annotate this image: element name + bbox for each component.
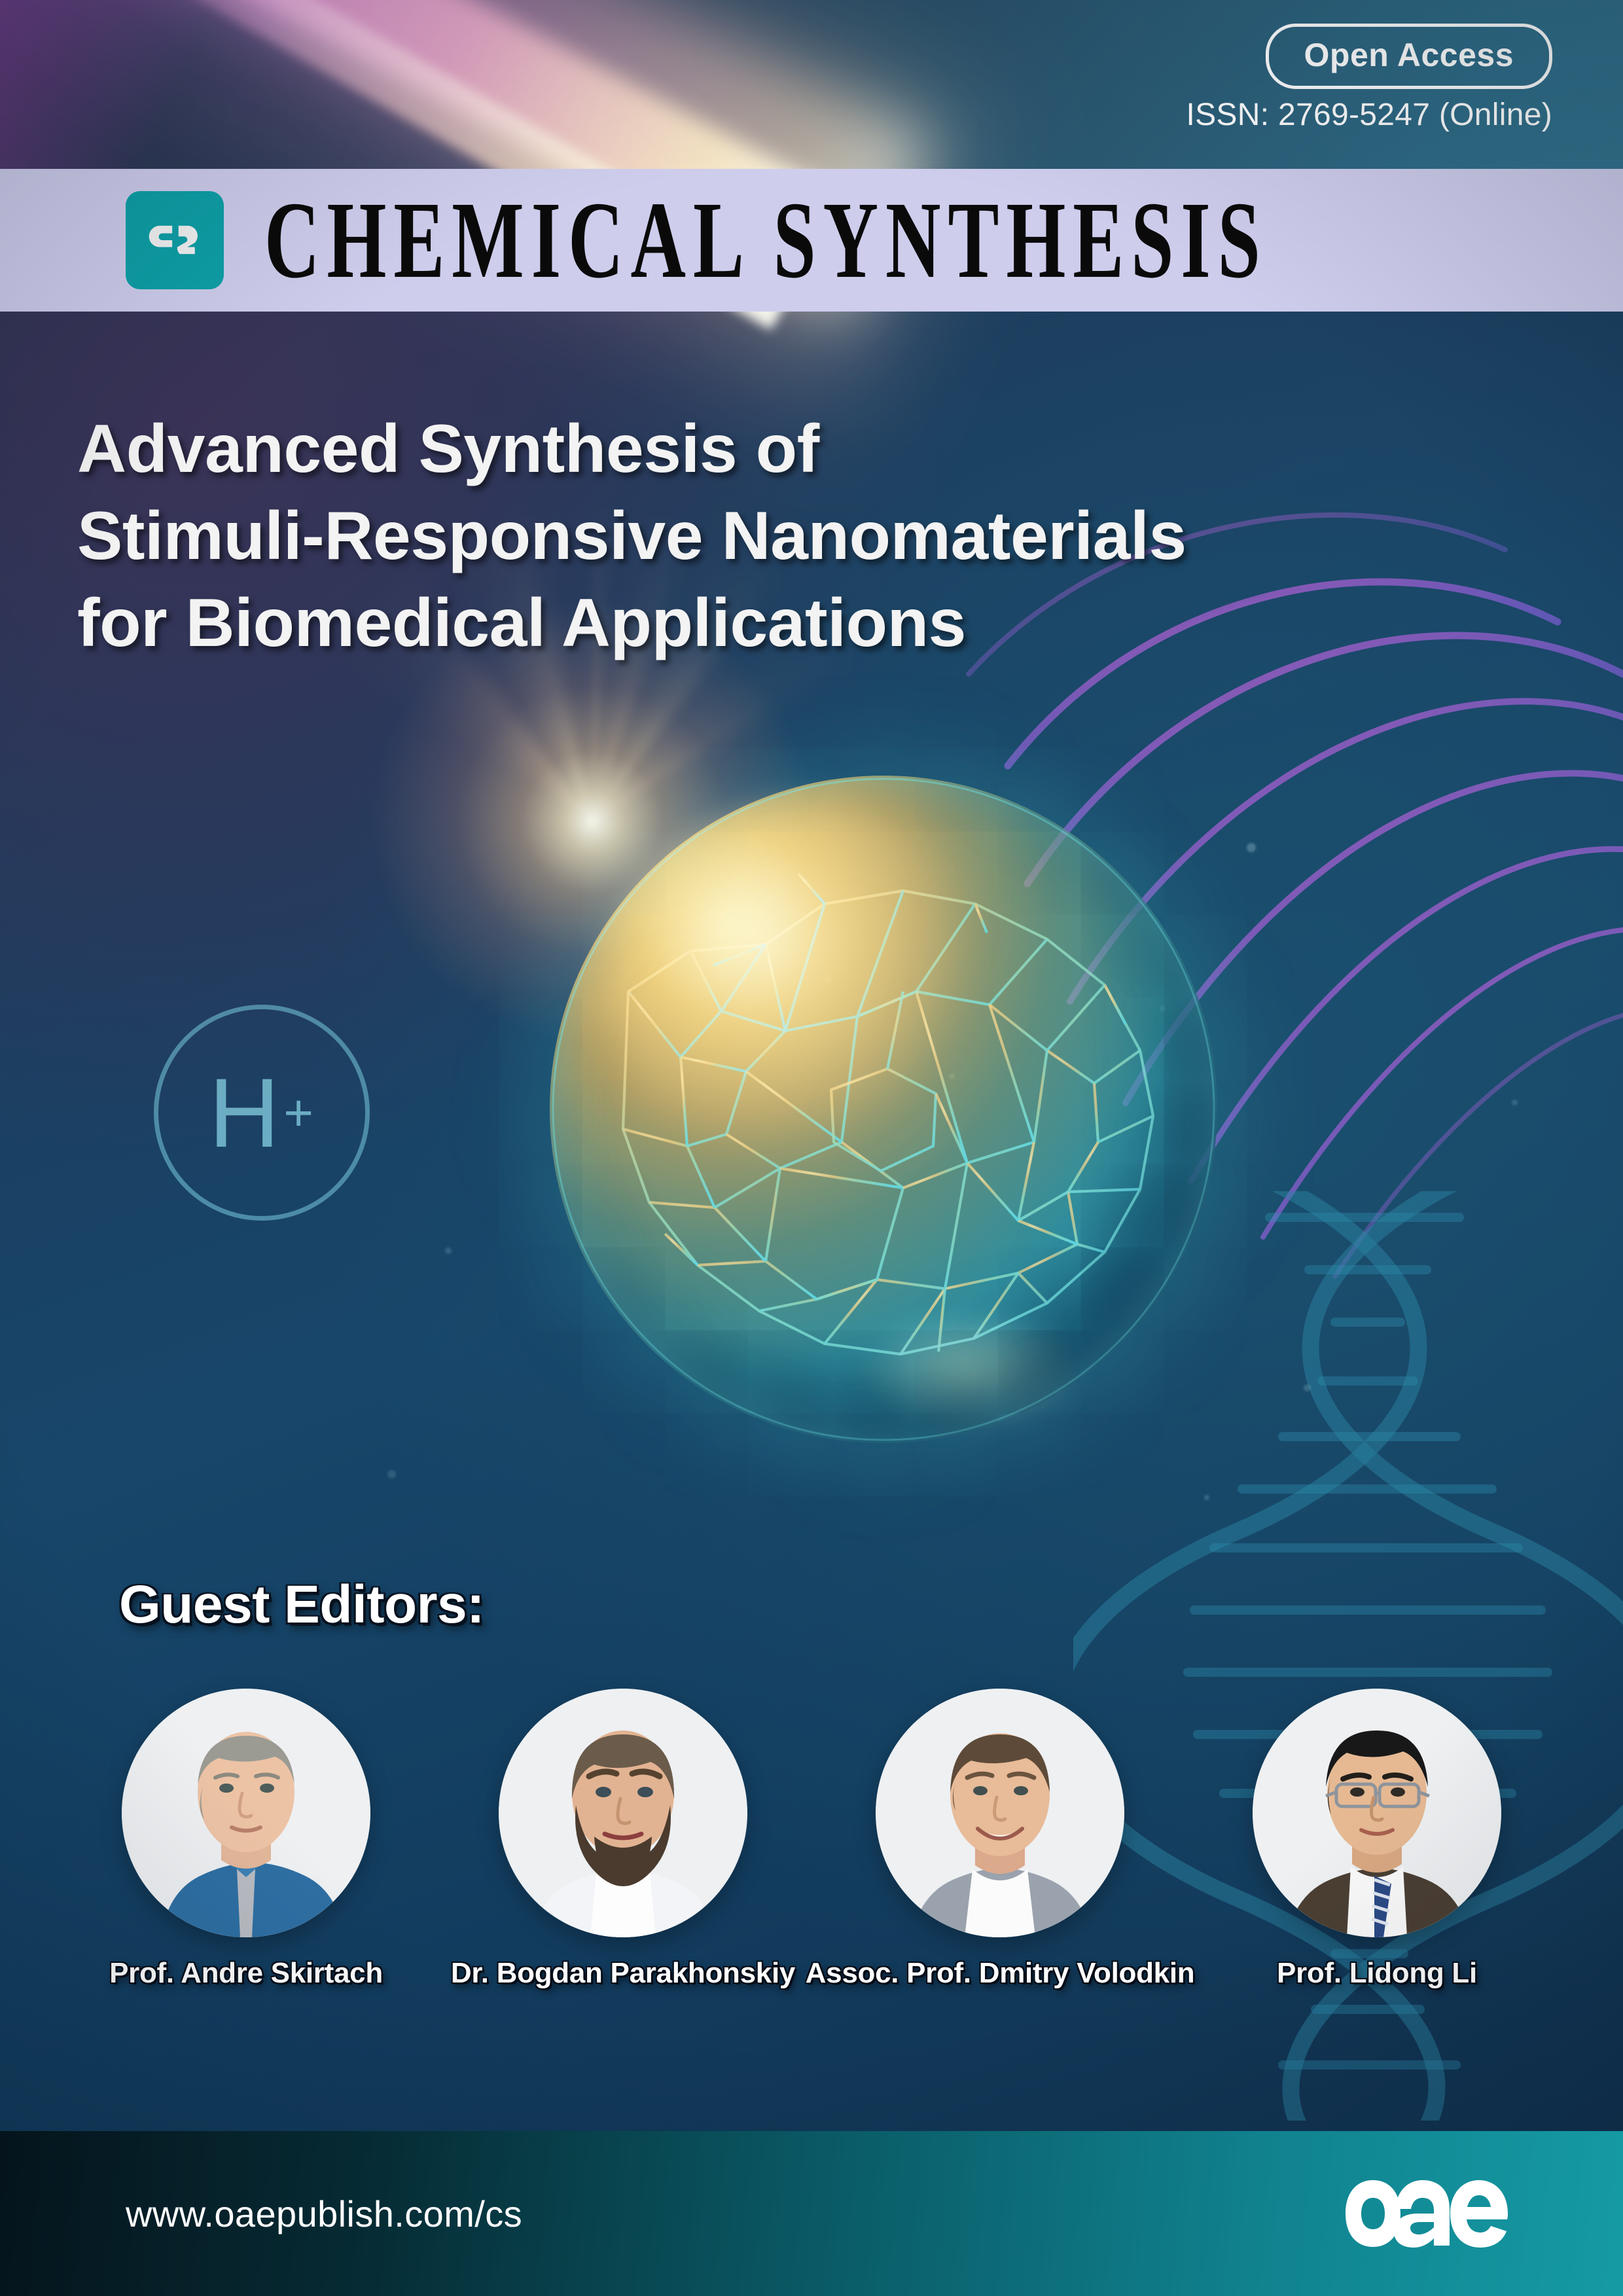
journal-name: CHEMICAL SYNTHESIS — [264, 185, 1268, 295]
guest-editors-list: Prof. Andre Skirtach — [0, 1689, 1623, 1990]
oae-logo-icon[interactable] — [1343, 2178, 1508, 2250]
cs-logo-icon[interactable] — [126, 191, 224, 289]
journal-title-banner: CHEMICAL SYNTHESIS — [0, 169, 1623, 312]
nanoparticle-sphere — [550, 776, 1217, 1443]
issue-title-line-3: for Biomedical Applications — [77, 580, 1569, 667]
guest-editor-name: Assoc. Prof. Dmitry Volodkin — [806, 1957, 1195, 1990]
guest-editor-name: Prof. Lidong Li — [1277, 1957, 1477, 1990]
journal-cover: H+ Open Access ISSN: 2769-5247 (Online) … — [0, 0, 1623, 2296]
issue-title-line-2: Stimuli-Responsive Nanomaterials — [77, 493, 1569, 580]
h-plus-charge: + — [283, 1083, 315, 1143]
cover-header: Open Access ISSN: 2769-5247 (Online) — [0, 0, 1623, 169]
guest-editors-label: Guest Editors: — [119, 1574, 484, 1636]
avatar — [122, 1689, 370, 1937]
h-plus-icon: H+ — [154, 1005, 370, 1221]
guest-editor-item[interactable]: Prof. Andre Skirtach — [82, 1689, 410, 1990]
issn-text: ISSN: 2769-5247 (Online) — [1186, 97, 1552, 133]
issue-title-line-1: Advanced Synthesis of — [77, 406, 1569, 493]
avatar — [499, 1689, 747, 1937]
guest-editor-name: Dr. Bogdan Parakhonskiy — [451, 1957, 795, 1990]
guest-editor-item[interactable]: Assoc. Prof. Dmitry Volodkin — [836, 1689, 1164, 1990]
guest-editor-item[interactable]: Prof. Lidong Li — [1213, 1689, 1541, 1990]
issue-title: Advanced Synthesis of Stimuli-Responsive… — [77, 406, 1569, 667]
guest-editor-name: Prof. Andre Skirtach — [109, 1957, 383, 1990]
open-access-badge[interactable]: Open Access — [1266, 24, 1552, 89]
h-plus-letter: H — [209, 1056, 281, 1170]
avatar — [1253, 1689, 1501, 1937]
guest-editor-item[interactable]: Dr. Bogdan Parakhonskiy — [459, 1689, 787, 1990]
website-url[interactable]: www.oaepublish.com/cs — [126, 2193, 522, 2235]
avatar — [876, 1689, 1124, 1937]
cover-footer: www.oaepublish.com/cs — [0, 2131, 1623, 2296]
